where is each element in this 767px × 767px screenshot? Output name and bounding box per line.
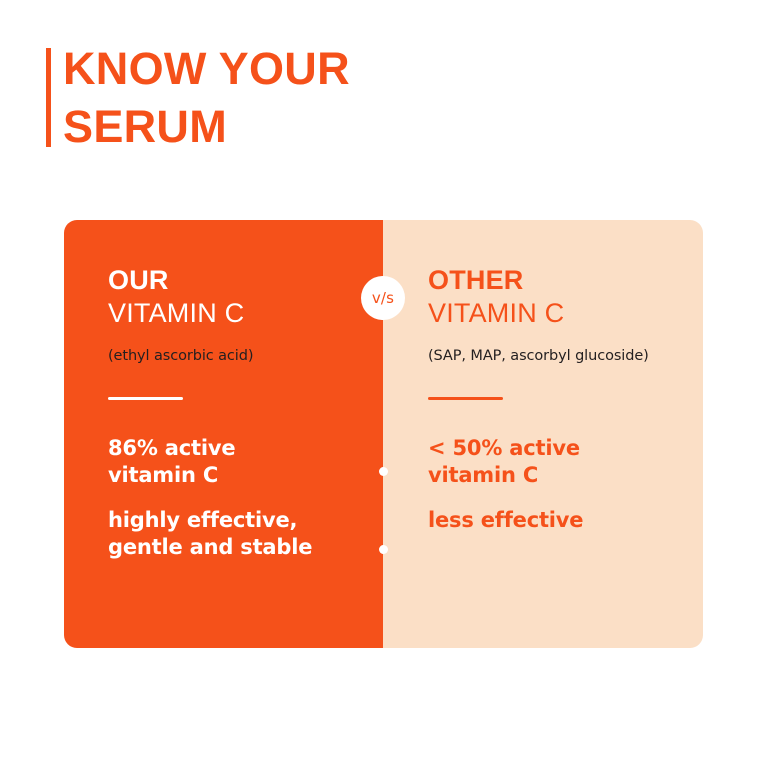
comparison-card: OUR VITAMIN C (ethyl ascorbic acid) 86% … xyxy=(64,220,703,648)
ours-divider-rule xyxy=(108,397,183,400)
other-divider-rule xyxy=(428,397,503,400)
list-item: highly effective, gentle and stable xyxy=(108,507,383,561)
list-item: 86% active vitamin C xyxy=(108,435,383,489)
page-heading-block: KNOW YOUR SERUM xyxy=(46,46,466,150)
page-title: KNOW YOUR SERUM xyxy=(63,40,463,156)
ours-kicker: OUR xyxy=(108,264,383,297)
other-subtitle: (SAP, MAP, ascorbyl glucoside) xyxy=(428,347,703,365)
other-benefit-list: < 50% active vitamin C less effective xyxy=(428,435,703,534)
ours-subtitle: (ethyl ascorbic acid) xyxy=(108,347,383,365)
other-name: VITAMIN C xyxy=(428,297,703,330)
list-item: less effective xyxy=(428,507,703,534)
ours-heading: OUR VITAMIN C xyxy=(108,264,383,330)
ours-benefit-list: 86% active vitamin C highly effective, g… xyxy=(108,435,383,561)
comparison-column-ours: OUR VITAMIN C (ethyl ascorbic acid) 86% … xyxy=(64,220,383,648)
list-item: < 50% active vitamin C xyxy=(428,435,703,489)
comparison-column-other: OTHER VITAMIN C (SAP, MAP, ascorbyl gluc… xyxy=(383,220,703,648)
other-heading: OTHER VITAMIN C xyxy=(428,264,703,330)
heading-accent-bar xyxy=(46,48,51,147)
other-kicker: OTHER xyxy=(428,264,703,297)
ours-name: VITAMIN C xyxy=(108,297,383,330)
